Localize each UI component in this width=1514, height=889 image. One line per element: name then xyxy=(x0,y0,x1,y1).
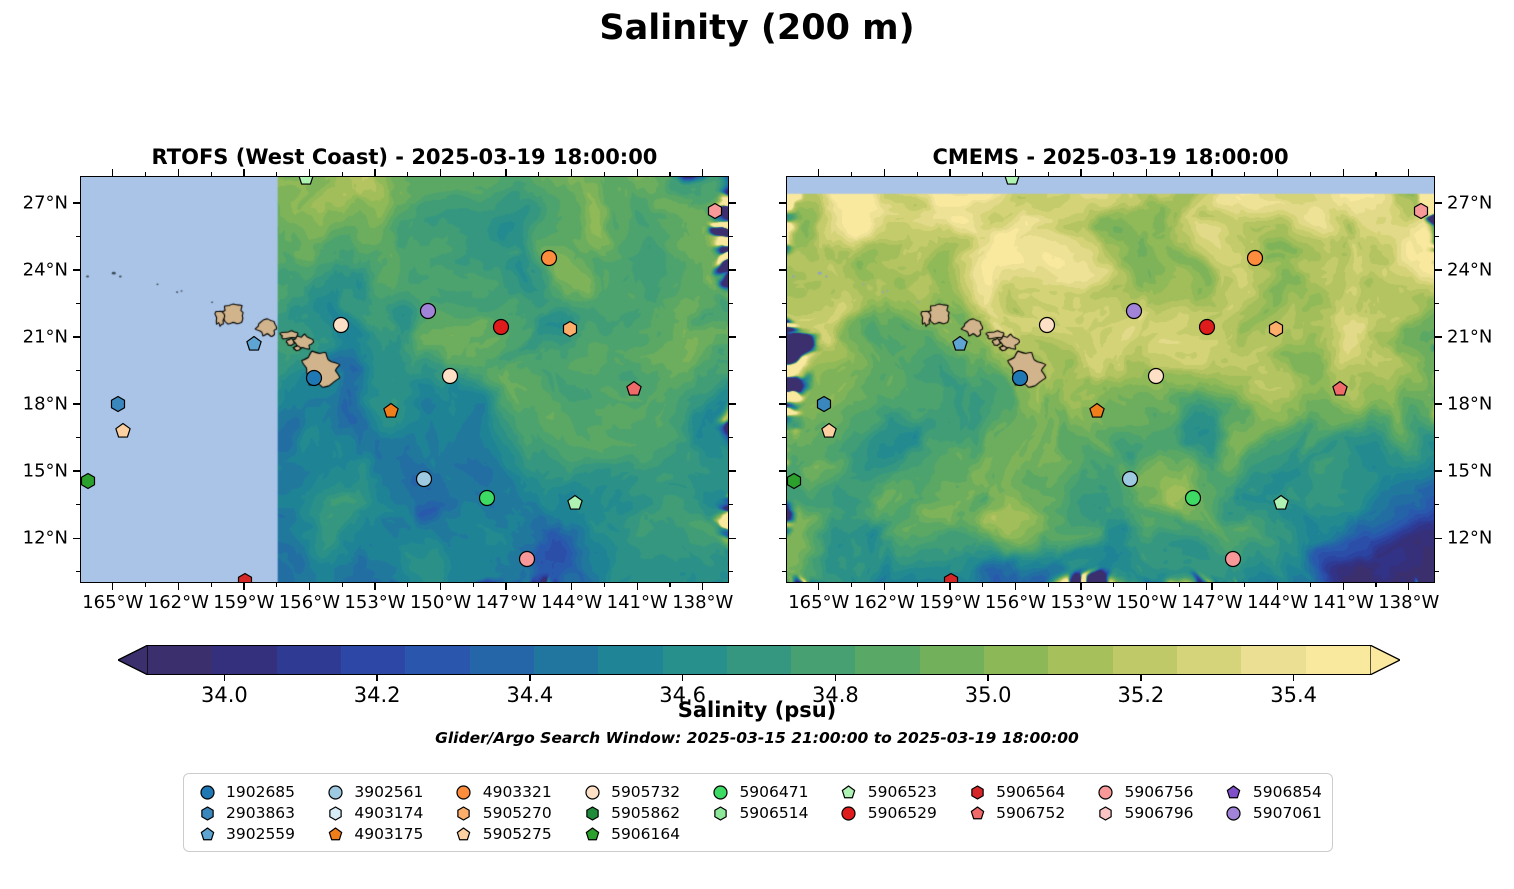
x-tick-label: 159°W xyxy=(213,592,274,613)
legend-label: 5906796 xyxy=(1119,804,1194,822)
x-tick-major xyxy=(1015,583,1016,590)
x-tick-major-top xyxy=(374,169,375,176)
y-tick-major xyxy=(73,403,80,404)
legend-marker-circle xyxy=(322,785,348,800)
x-tick-label: 156°W xyxy=(279,592,340,613)
float-marker-5905270[interactable] xyxy=(1268,321,1285,338)
x-tick-label: 165°W xyxy=(82,592,143,613)
float-marker-3902559[interactable] xyxy=(245,335,262,352)
map-panel-cmems: CMEMS - 2025-03-19 18:00:00 xyxy=(786,176,1435,583)
legend-marker-pentagon xyxy=(964,806,990,821)
x-tick-minor-top xyxy=(473,172,474,176)
y-tick-minor-r xyxy=(729,437,733,438)
x-tick-minor xyxy=(851,583,852,587)
legend-label: 3902561 xyxy=(348,783,423,801)
legend-marker-hexagon xyxy=(964,785,990,800)
float-marker-5906564[interactable] xyxy=(236,572,253,583)
float-marker-5906164[interactable] xyxy=(786,473,802,490)
x-tick-major xyxy=(1408,583,1409,590)
x-tick-major xyxy=(1211,583,1212,590)
float-marker-2903863[interactable] xyxy=(816,395,833,412)
x-tick-minor xyxy=(604,583,605,587)
x-tick-label: 156°W xyxy=(985,592,1046,613)
float-marker-2903863[interactable] xyxy=(110,395,127,412)
colorbar[interactable]: 34.034.234.434.634.835.035.235.4 xyxy=(118,645,1400,675)
x-tick-major-top xyxy=(1343,169,1344,176)
legend-item-5906514[interactable]: 5906514 xyxy=(707,803,808,823)
x-tick-major xyxy=(1146,583,1147,590)
colorbar-tick xyxy=(1140,675,1141,681)
legend-marker-pentagon xyxy=(836,785,862,800)
x-tick-major-top xyxy=(1211,169,1212,176)
colorbar-band-16 xyxy=(1177,646,1241,674)
y-tick-label: 18°N xyxy=(0,394,68,415)
y-tick-label: 27°N xyxy=(0,192,68,213)
y-tick-major xyxy=(779,403,786,404)
legend-item-5906164[interactable]: 5906164 xyxy=(579,824,680,844)
x-tick-label: 165°W xyxy=(788,592,849,613)
colorbar-extend-low-arrow xyxy=(118,645,148,675)
legend-label: 5905270 xyxy=(477,804,552,822)
x-tick-major-top xyxy=(1277,169,1278,176)
y-tick-major-r xyxy=(1435,269,1442,270)
x-tick-major xyxy=(178,583,179,590)
y-tick-minor-r xyxy=(729,571,733,572)
x-tick-minor-top xyxy=(1310,172,1311,176)
x-tick-label: 153°W xyxy=(344,592,405,613)
colorbar-band-12 xyxy=(920,646,984,674)
y-tick-minor xyxy=(782,571,786,572)
legend-label: 5906471 xyxy=(733,783,808,801)
float-marker-5905275[interactable] xyxy=(114,422,131,439)
y-tick-major-r xyxy=(1435,202,1442,203)
y-tick-minor xyxy=(782,370,786,371)
x-tick-minor-top xyxy=(851,172,852,176)
x-tick-major xyxy=(505,583,506,590)
x-tick-major-top xyxy=(818,169,819,176)
x-tick-major xyxy=(818,583,819,590)
legend-item-5906796[interactable]: 5906796 xyxy=(1093,803,1194,823)
y-tick-minor-r xyxy=(1435,370,1439,371)
float-marker-1902685[interactable] xyxy=(1011,370,1028,387)
x-tick-major-top xyxy=(1080,169,1081,176)
legend-empty xyxy=(1093,824,1194,844)
x-tick-major xyxy=(309,583,310,590)
colorbar-band-15 xyxy=(1113,646,1177,674)
float-marker-5905732[interactable] xyxy=(442,368,459,385)
x-tick-minor xyxy=(917,583,918,587)
map-frame-cmems[interactable] xyxy=(786,176,1435,583)
x-tick-minor xyxy=(1244,583,1245,587)
x-tick-label: 162°W xyxy=(148,592,209,613)
float-marker-5906756[interactable] xyxy=(518,551,535,568)
float-marker-5906756[interactable] xyxy=(706,202,723,219)
y-tick-label: 27°N xyxy=(1447,192,1492,213)
legend-item-2903863[interactable]: 2903863 xyxy=(194,803,295,823)
y-tick-minor xyxy=(782,303,786,304)
y-tick-major xyxy=(73,269,80,270)
legend-item-3902559[interactable]: 3902559 xyxy=(194,824,295,844)
x-tick-major xyxy=(1080,583,1081,590)
legend-marker-hexagon xyxy=(194,806,220,821)
y-tick-minor-r xyxy=(1435,236,1439,237)
x-tick-minor xyxy=(276,583,277,587)
legend-marker-hexagon xyxy=(707,806,733,821)
float-marker-4903175[interactable] xyxy=(383,402,400,419)
colorbar-tick xyxy=(682,675,683,681)
x-tick-major xyxy=(637,583,638,590)
colorbar-tick xyxy=(987,675,988,681)
colorbar-tick xyxy=(224,675,225,681)
colorbar-band-18 xyxy=(1306,646,1370,674)
y-tick-major-r xyxy=(1435,470,1442,471)
y-tick-minor xyxy=(76,437,80,438)
y-tick-minor xyxy=(782,504,786,505)
float-marker-5906471[interactable] xyxy=(479,489,496,506)
float-marker-4903321[interactable] xyxy=(1246,249,1263,266)
x-tick-minor xyxy=(342,583,343,587)
x-tick-major xyxy=(702,583,703,590)
float-marker-5907061[interactable] xyxy=(420,303,437,320)
x-tick-label: 159°W xyxy=(919,592,980,613)
y-tick-minor xyxy=(76,504,80,505)
legend-item-5905275[interactable]: 5905275 xyxy=(451,824,552,844)
legend-label: 5905862 xyxy=(605,804,680,822)
map-panel-rtofs: RTOFS (West Coast) - 2025-03-19 18:00:00 xyxy=(80,176,729,583)
x-tick-minor xyxy=(211,583,212,587)
legend-item-5906854[interactable]: 5906854 xyxy=(1221,782,1322,802)
x-tick-label: 138°W xyxy=(672,592,733,613)
legend-label: 3902559 xyxy=(220,825,295,843)
y-tick-major-r xyxy=(729,336,736,337)
y-tick-label: 21°N xyxy=(0,327,68,348)
y-tick-minor-r xyxy=(729,370,733,371)
y-tick-label: 12°N xyxy=(1447,528,1492,549)
y-tick-minor xyxy=(76,303,80,304)
y-tick-label: 21°N xyxy=(1447,327,1492,348)
y-tick-minor xyxy=(782,437,786,438)
float-marker-5906564[interactable] xyxy=(942,572,959,583)
float-marker-5906523[interactable] xyxy=(298,176,315,187)
x-tick-label: 138°W xyxy=(1378,592,1439,613)
x-tick-label: 147°W xyxy=(476,592,537,613)
float-marker-3902561[interactable] xyxy=(1122,470,1139,487)
legend-marker-pentagon xyxy=(1221,785,1247,800)
x-tick-minor-top xyxy=(1375,172,1376,176)
float-marker-5906752[interactable] xyxy=(625,381,642,398)
x-tick-major xyxy=(949,583,950,590)
colorbar-band-5 xyxy=(470,646,534,674)
x-tick-major xyxy=(884,583,885,590)
float-marker-5906164[interactable] xyxy=(80,473,96,490)
y-tick-minor-r xyxy=(729,303,733,304)
y-tick-major-r xyxy=(729,403,736,404)
y-tick-minor xyxy=(782,236,786,237)
colorbar-band-11 xyxy=(855,646,919,674)
colorbar-extend-high-arrow xyxy=(1370,645,1400,675)
search-window-text: Glider/Argo Search Window: 2025-03-15 21… xyxy=(0,729,1514,747)
y-tick-major xyxy=(779,269,786,270)
x-tick-minor xyxy=(1048,583,1049,587)
float-marker-5906752[interactable] xyxy=(1331,381,1348,398)
colorbar-band-6 xyxy=(534,646,598,674)
legend-marker-circle xyxy=(1093,785,1119,800)
x-tick-major xyxy=(571,583,572,590)
x-tick-major-top xyxy=(309,169,310,176)
legend-empty xyxy=(1221,824,1322,844)
float-marker-5905275[interactable] xyxy=(820,422,837,439)
legend-item-1902685[interactable]: 1902685 xyxy=(194,782,295,802)
float-marker-3902561[interactable] xyxy=(416,470,433,487)
y-tick-label: 12°N xyxy=(0,528,68,549)
x-tick-major xyxy=(243,583,244,590)
x-tick-minor-top xyxy=(145,172,146,176)
float-marker-1902685[interactable] xyxy=(305,370,322,387)
x-tick-minor-top xyxy=(982,172,983,176)
x-tick-minor xyxy=(407,583,408,587)
x-tick-minor xyxy=(1310,583,1311,587)
x-tick-minor-top xyxy=(917,172,918,176)
legend-label: 5906514 xyxy=(733,804,808,822)
y-tick-major-r xyxy=(1435,538,1442,539)
y-tick-label: 18°N xyxy=(1447,394,1492,415)
y-tick-major xyxy=(73,336,80,337)
y-tick-major xyxy=(73,470,80,471)
float-marker-5906523[interactable] xyxy=(1272,495,1289,512)
legend-label: 5906564 xyxy=(990,783,1065,801)
x-tick-minor-top xyxy=(211,172,212,176)
legend-marker-pentagon xyxy=(451,827,477,842)
x-tick-major-top xyxy=(949,169,950,176)
legend-label: 5906164 xyxy=(605,825,680,843)
colorbar-band-13 xyxy=(984,646,1048,674)
legend-item-5905862[interactable]: 5905862 xyxy=(579,803,680,823)
y-tick-major xyxy=(779,336,786,337)
colorbar-tick xyxy=(835,675,836,681)
x-tick-label: 141°W xyxy=(1313,592,1374,613)
x-tick-major-top xyxy=(1408,169,1409,176)
x-tick-major xyxy=(1277,583,1278,590)
legend-label: 5906529 xyxy=(862,804,937,822)
legend-item-4903174[interactable]: 4903174 xyxy=(322,803,423,823)
legend-marker-circle xyxy=(836,806,862,821)
x-tick-major-top xyxy=(571,169,572,176)
x-tick-label: 144°W xyxy=(541,592,602,613)
colorbar-band-17 xyxy=(1241,646,1305,674)
x-tick-major-top xyxy=(637,169,638,176)
legend-marker-hexagon xyxy=(451,806,477,821)
x-tick-minor-top xyxy=(604,172,605,176)
x-tick-minor xyxy=(145,583,146,587)
x-tick-label: 144°W xyxy=(1247,592,1308,613)
x-tick-label: 147°W xyxy=(1182,592,1243,613)
legend-marker-pentagon xyxy=(194,827,220,842)
y-tick-label: 15°N xyxy=(0,461,68,482)
float-marker-5906529[interactable] xyxy=(492,318,509,335)
legend-marker-circle xyxy=(707,785,733,800)
x-tick-minor xyxy=(538,583,539,587)
y-tick-minor xyxy=(76,236,80,237)
x-tick-minor-top xyxy=(1113,172,1114,176)
x-tick-minor-top xyxy=(1244,172,1245,176)
legend-empty xyxy=(707,824,808,844)
colorbar-band-9 xyxy=(727,646,791,674)
x-tick-minor xyxy=(1375,583,1376,587)
float-marker-5905732[interactable] xyxy=(1039,316,1056,333)
y-tick-major-r xyxy=(729,202,736,203)
legend-label: 1902685 xyxy=(220,783,295,801)
float-legend: 1902685390256149033215905732590647159065… xyxy=(183,773,1333,852)
x-tick-major xyxy=(1343,583,1344,590)
colorbar-band-14 xyxy=(1048,646,1112,674)
x-tick-minor-top xyxy=(1048,172,1049,176)
legend-empty xyxy=(836,824,937,844)
y-tick-minor-r xyxy=(1435,437,1439,438)
legend-marker-circle xyxy=(579,785,605,800)
legend-marker-hexagon xyxy=(1093,806,1119,821)
legend-label: 5905732 xyxy=(605,783,680,801)
colorbar-band-3 xyxy=(341,646,405,674)
colorbar-band-1 xyxy=(212,646,276,674)
x-tick-label: 162°W xyxy=(854,592,915,613)
legend-label: 2903863 xyxy=(220,804,295,822)
x-tick-major xyxy=(374,583,375,590)
colorbar-label: Salinity (psu) xyxy=(0,698,1514,722)
y-tick-major-r xyxy=(729,470,736,471)
x-tick-label: 141°W xyxy=(607,592,668,613)
x-tick-label: 150°W xyxy=(1116,592,1177,613)
y-tick-major xyxy=(779,202,786,203)
colorbar-tick xyxy=(376,675,377,681)
legend-grid: 1902685390256149033215905732590647159065… xyxy=(194,782,1322,844)
y-tick-major-r xyxy=(1435,336,1442,337)
y-tick-minor-r xyxy=(1435,303,1439,304)
y-tick-major xyxy=(779,538,786,539)
x-tick-minor xyxy=(1113,583,1114,587)
legend-marker-hexagon xyxy=(322,806,348,821)
x-tick-major xyxy=(440,583,441,590)
legend-marker-hexagon xyxy=(579,806,605,821)
colorbar-band-8 xyxy=(663,646,727,674)
legend-item-4903321[interactable]: 4903321 xyxy=(451,782,552,802)
colorbar-band-10 xyxy=(791,646,855,674)
float-marker-5905270[interactable] xyxy=(562,321,579,338)
legend-item-5905270[interactable]: 5905270 xyxy=(451,803,552,823)
x-tick-minor-top xyxy=(276,172,277,176)
colorbar-band-0 xyxy=(148,646,212,674)
legend-marker-pentagon xyxy=(322,827,348,842)
float-marker-3902559[interactable] xyxy=(951,335,968,352)
legend-label: 5906756 xyxy=(1119,783,1194,801)
legend-item-3902561[interactable]: 3902561 xyxy=(322,782,423,802)
legend-item-5906756[interactable]: 5906756 xyxy=(1093,782,1194,802)
y-tick-minor-r xyxy=(1435,571,1439,572)
y-tick-major xyxy=(73,202,80,203)
y-tick-label: 24°N xyxy=(0,259,68,280)
float-marker-5906756[interactable] xyxy=(1412,202,1429,219)
y-tick-minor-r xyxy=(729,236,733,237)
y-tick-major-r xyxy=(729,538,736,539)
x-tick-minor xyxy=(669,583,670,587)
legend-label: 5906752 xyxy=(990,804,1065,822)
x-tick-minor xyxy=(982,583,983,587)
y-tick-major xyxy=(73,538,80,539)
x-tick-minor-top xyxy=(538,172,539,176)
colorbar-band-4 xyxy=(405,646,469,674)
x-tick-minor xyxy=(1179,583,1180,587)
legend-label: 5905275 xyxy=(477,825,552,843)
legend-item-5905732[interactable]: 5905732 xyxy=(579,782,680,802)
legend-label: 4903175 xyxy=(348,825,423,843)
legend-item-5906529[interactable]: 5906529 xyxy=(836,803,937,823)
x-tick-major-top xyxy=(243,169,244,176)
y-tick-minor-r xyxy=(1435,504,1439,505)
float-marker-5905732[interactable] xyxy=(1148,368,1165,385)
y-tick-label: 15°N xyxy=(1447,461,1492,482)
map-frame-rtofs[interactable] xyxy=(80,176,729,583)
legend-marker-circle xyxy=(194,785,220,800)
colorbar-tick xyxy=(529,675,530,681)
float-marker-5906756[interactable] xyxy=(1224,551,1241,568)
legend-empty xyxy=(964,824,1065,844)
x-tick-major-top xyxy=(884,169,885,176)
legend-item-5906752[interactable]: 5906752 xyxy=(964,803,1065,823)
colorbar-gradient xyxy=(148,645,1370,675)
y-tick-minor xyxy=(76,571,80,572)
x-tick-major-top xyxy=(702,169,703,176)
float-marker-5906471[interactable] xyxy=(1185,489,1202,506)
legend-item-4903175[interactable]: 4903175 xyxy=(322,824,423,844)
x-tick-label: 150°W xyxy=(410,592,471,613)
legend-label: 4903321 xyxy=(477,783,552,801)
x-tick-major-top xyxy=(440,169,441,176)
legend-marker-pentagon xyxy=(579,827,605,842)
y-tick-major-r xyxy=(729,269,736,270)
float-marker-5906529[interactable] xyxy=(1198,318,1215,335)
x-tick-label: 153°W xyxy=(1050,592,1111,613)
x-tick-minor-top xyxy=(1179,172,1180,176)
x-tick-minor-top xyxy=(407,172,408,176)
x-tick-minor xyxy=(473,583,474,587)
float-marker-4903321[interactable] xyxy=(540,249,557,266)
legend-label: 5907061 xyxy=(1247,804,1322,822)
float-marker-5906523[interactable] xyxy=(566,495,583,512)
legend-item-5906471[interactable]: 5906471 xyxy=(707,782,808,802)
x-tick-major-top xyxy=(112,169,113,176)
y-tick-minor-r xyxy=(729,504,733,505)
legend-item-5907061[interactable]: 5907061 xyxy=(1221,803,1322,823)
float-marker-5907061[interactable] xyxy=(1126,303,1143,320)
legend-label: 5906523 xyxy=(862,783,937,801)
x-tick-major-top xyxy=(505,169,506,176)
legend-item-5906564[interactable]: 5906564 xyxy=(964,782,1065,802)
x-tick-minor-top xyxy=(342,172,343,176)
legend-item-5906523[interactable]: 5906523 xyxy=(836,782,937,802)
float-marker-5905732[interactable] xyxy=(333,316,350,333)
y-tick-label: 24°N xyxy=(1447,259,1492,280)
x-tick-major-top xyxy=(178,169,179,176)
x-tick-minor-top xyxy=(669,172,670,176)
x-tick-major xyxy=(112,583,113,590)
y-tick-major xyxy=(779,470,786,471)
colorbar-band-7 xyxy=(598,646,662,674)
float-marker-5906523[interactable] xyxy=(1004,176,1021,187)
legend-label: 5906854 xyxy=(1247,783,1322,801)
float-marker-4903175[interactable] xyxy=(1089,402,1106,419)
colorbar-band-2 xyxy=(277,646,341,674)
colorbar-tick xyxy=(1293,675,1294,681)
legend-marker-circle xyxy=(451,785,477,800)
